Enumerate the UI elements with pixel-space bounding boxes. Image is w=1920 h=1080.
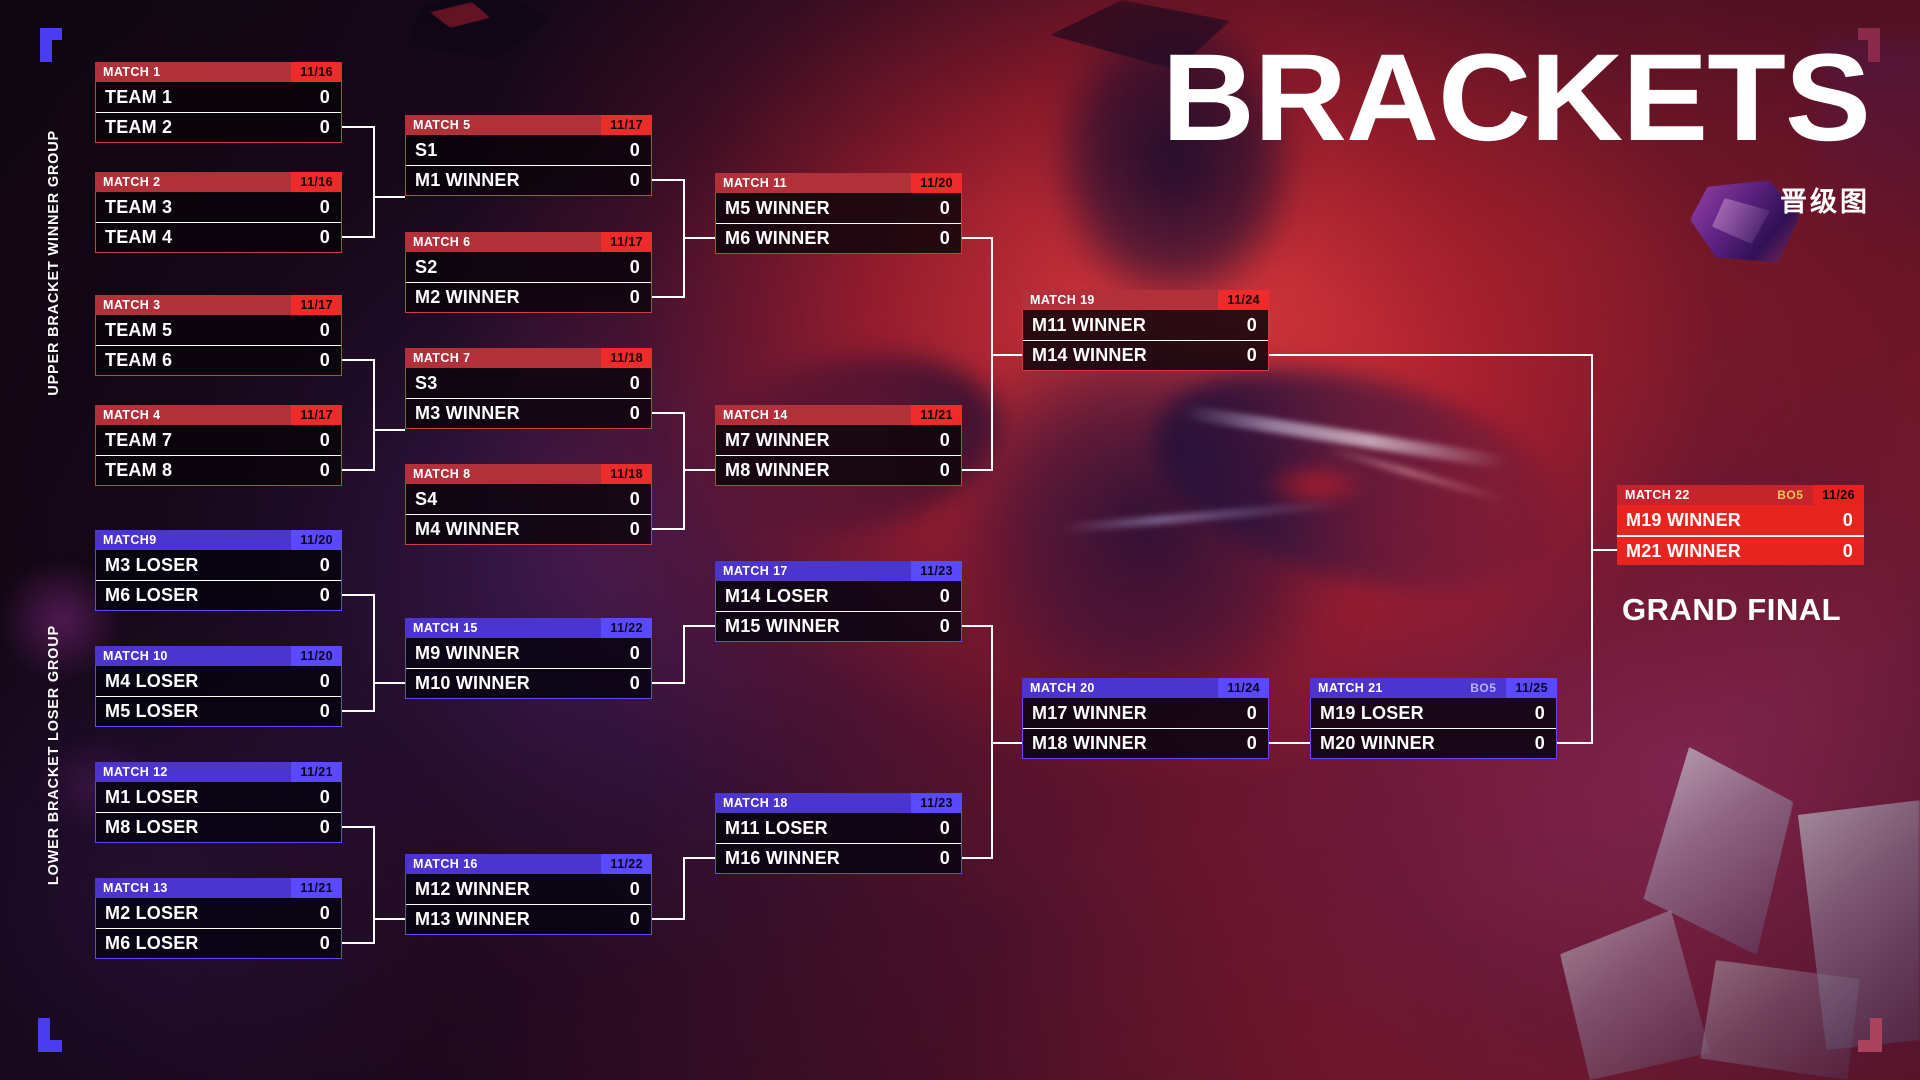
team-score: 0: [320, 320, 341, 341]
team-name: M13 WINNER: [406, 909, 630, 930]
team-name: M5 WINNER: [716, 198, 940, 219]
team-score: 0: [940, 198, 961, 219]
match-card-m10[interactable]: MATCH 1011/20M4 LOSER0M5 LOSER0: [95, 646, 342, 727]
match-card-m12[interactable]: MATCH 1211/21M1 LOSER0M8 LOSER0: [95, 762, 342, 843]
team-name: M11 WINNER: [1023, 315, 1247, 336]
match-header: MATCH 1211/21: [95, 762, 342, 782]
match-name: MATCH 5: [405, 118, 601, 132]
match-team-row[interactable]: TEAM 70: [96, 425, 341, 455]
match-body: M1 LOSER0M8 LOSER0: [95, 782, 342, 843]
match-name: MATCH 11: [715, 176, 911, 190]
match-team-row[interactable]: M10 WINNER0: [406, 668, 651, 698]
match-body: S40M4 WINNER0: [405, 484, 652, 545]
match-team-row[interactable]: S40: [406, 484, 651, 514]
match-name: MATCH 17: [715, 564, 911, 578]
team-name: TEAM 1: [96, 87, 320, 108]
match-header: MATCH 1611/22: [405, 854, 652, 874]
match-team-row[interactable]: M6 WINNER0: [716, 223, 961, 253]
match-name: MATCH 3: [95, 298, 291, 312]
team-score: 0: [940, 460, 961, 481]
match-team-row[interactable]: M15 WINNER0: [716, 611, 961, 641]
team-name: M6 WINNER: [716, 228, 940, 249]
match-team-row[interactable]: M2 WINNER0: [406, 282, 651, 312]
match-date: 11/21: [291, 762, 342, 782]
team-score: 0: [630, 643, 651, 664]
match-header: MATCH 711/18: [405, 348, 652, 368]
match-date: 11/16: [291, 172, 342, 192]
match-date: 11/17: [291, 405, 342, 425]
match-team-row[interactable]: M14 WINNER0: [1023, 340, 1268, 370]
match-team-row[interactable]: M1 WINNER0: [406, 165, 651, 195]
team-name: M18 WINNER: [1023, 733, 1247, 754]
team-score: 0: [940, 430, 961, 451]
match-name: MATCH 15: [405, 621, 601, 635]
match-card-m8[interactable]: MATCH 811/18S40M4 WINNER0: [405, 464, 652, 545]
team-score: 0: [940, 228, 961, 249]
match-header: MATCH 1111/20: [715, 173, 962, 193]
match-date: 11/22: [601, 618, 652, 638]
team-name: M2 WINNER: [406, 287, 630, 308]
team-name: S2: [406, 257, 630, 278]
match-header: MATCH 1911/24: [1022, 290, 1269, 310]
match-team-row[interactable]: TEAM 50: [96, 315, 341, 345]
team-score: 0: [1247, 345, 1268, 366]
team-score: 0: [320, 430, 341, 451]
match-name: MATCH9: [95, 533, 291, 547]
lower-bracket-group-label: LOWER BRACKET LOSER GROUP: [46, 625, 62, 885]
match-team-row[interactable]: M21 WINNER0: [1617, 535, 1864, 565]
match-card-m19[interactable]: MATCH 1911/24M11 WINNER0M14 WINNER0: [1022, 290, 1269, 371]
match-header: MATCH 1011/20: [95, 646, 342, 666]
match-body: M9 WINNER0M10 WINNER0: [405, 638, 652, 699]
match-header: MATCH 811/18: [405, 464, 652, 484]
match-body: M5 WINNER0M6 WINNER0: [715, 193, 962, 254]
team-score: 0: [320, 87, 341, 108]
match-name: MATCH 14: [715, 408, 911, 422]
match-team-row[interactable]: TEAM 10: [96, 82, 341, 112]
match-card-m20[interactable]: MATCH 2011/24M17 WINNER0M18 WINNER0: [1022, 678, 1269, 759]
match-header: MATCH 1511/22: [405, 618, 652, 638]
team-score: 0: [630, 373, 651, 394]
match-team-row[interactable]: M8 WINNER0: [716, 455, 961, 485]
team-name: TEAM 2: [96, 117, 320, 138]
match-card-m2[interactable]: MATCH 211/16TEAM 30TEAM 40: [95, 172, 342, 253]
match-name: MATCH 7: [405, 351, 601, 365]
team-score: 0: [630, 403, 651, 424]
match-team-row[interactable]: M12 WINNER0: [406, 874, 651, 904]
match-team-row[interactable]: M19 LOSER0: [1311, 698, 1556, 728]
team-score: 0: [320, 701, 341, 722]
match-body: M2 LOSER0M6 LOSER0: [95, 898, 342, 959]
match-team-row[interactable]: S30: [406, 368, 651, 398]
team-score: 0: [320, 787, 341, 808]
match-body: TEAM 10TEAM 20: [95, 82, 342, 143]
match-card-m21[interactable]: MATCH 21BO511/25M19 LOSER0M20 WINNER0: [1310, 678, 1557, 759]
match-team-row[interactable]: M13 WINNER0: [406, 904, 651, 934]
match-team-row[interactable]: M5 LOSER0: [96, 696, 341, 726]
match-header: MATCH 211/16: [95, 172, 342, 192]
match-date: 11/21: [291, 878, 342, 898]
team-name: M8 WINNER: [716, 460, 940, 481]
match-team-row[interactable]: M9 WINNER0: [406, 638, 651, 668]
team-name: TEAM 8: [96, 460, 320, 481]
match-team-row[interactable]: S20: [406, 252, 651, 282]
match-header: MATCH 1811/23: [715, 793, 962, 813]
match-name: MATCH 8: [405, 467, 601, 481]
team-name: M14 WINNER: [1023, 345, 1247, 366]
match-team-row[interactable]: M4 LOSER0: [96, 666, 341, 696]
team-name: S3: [406, 373, 630, 394]
match-body: M7 WINNER0M8 WINNER0: [715, 425, 962, 486]
team-score: 0: [320, 555, 341, 576]
match-card-m13[interactable]: MATCH 1311/21M2 LOSER0M6 LOSER0: [95, 878, 342, 959]
corner-bracket-bottom-left: [28, 1018, 62, 1052]
match-team-row[interactable]: M4 WINNER0: [406, 514, 651, 544]
team-score: 0: [630, 879, 651, 900]
match-name: MATCH 1: [95, 65, 291, 79]
team-score: 0: [630, 519, 651, 540]
match-team-row[interactable]: M6 LOSER0: [96, 928, 341, 958]
team-score: 0: [320, 817, 341, 838]
match-team-row[interactable]: M20 WINNER0: [1311, 728, 1556, 758]
match-card-m5[interactable]: MATCH 511/17S10M1 WINNER0: [405, 115, 652, 196]
team-name: M20 WINNER: [1311, 733, 1535, 754]
match-header: MATCH 611/17: [405, 232, 652, 252]
match-team-row[interactable]: M3 WINNER0: [406, 398, 651, 428]
match-card-m6[interactable]: MATCH 611/17S20M2 WINNER0: [405, 232, 652, 313]
team-score: 0: [940, 586, 961, 607]
team-score: 0: [1247, 315, 1268, 336]
match-name: MATCH 13: [95, 881, 291, 895]
team-score: 0: [1535, 733, 1556, 754]
match-date: 11/23: [911, 793, 962, 813]
corner-bracket-top-left: [28, 28, 62, 62]
match-team-row[interactable]: M7 WINNER0: [716, 425, 961, 455]
match-card-m1[interactable]: MATCH 111/16TEAM 10TEAM 20: [95, 62, 342, 143]
team-name: M6 LOSER: [96, 933, 320, 954]
team-name: M4 LOSER: [96, 671, 320, 692]
match-date: 11/20: [911, 173, 962, 193]
team-score: 0: [1247, 703, 1268, 724]
match-header: MATCH 2011/24: [1022, 678, 1269, 698]
match-date: 11/17: [601, 232, 652, 252]
team-name: M10 WINNER: [406, 673, 630, 694]
team-score: 0: [630, 257, 651, 278]
match-body: M19 WINNER0M21 WINNER0: [1617, 505, 1864, 565]
match-team-row[interactable]: M1 LOSER0: [96, 782, 341, 812]
match-body: S30M3 WINNER0: [405, 368, 652, 429]
match-date: 11/20: [291, 530, 342, 550]
team-name: M14 LOSER: [716, 586, 940, 607]
page-subtitle-chinese: 晋级图: [1189, 180, 1870, 219]
match-team-row[interactable]: TEAM 20: [96, 112, 341, 142]
match-name: MATCH 2: [95, 175, 291, 189]
team-name: TEAM 3: [96, 197, 320, 218]
match-team-row[interactable]: M6 LOSER0: [96, 580, 341, 610]
team-score: 0: [1843, 541, 1864, 562]
match-card-m18[interactable]: MATCH 1811/23M11 LOSER0M16 WINNER0: [715, 793, 962, 874]
team-name: M5 LOSER: [96, 701, 320, 722]
match-card-m16[interactable]: MATCH 1611/22M12 WINNER0M13 WINNER0: [405, 854, 652, 935]
match-team-row[interactable]: M18 WINNER0: [1023, 728, 1268, 758]
match-date: 11/24: [1218, 290, 1269, 310]
team-name: M12 WINNER: [406, 879, 630, 900]
match-body: M11 LOSER0M16 WINNER0: [715, 813, 962, 874]
match-card-m11[interactable]: MATCH 1111/20M5 WINNER0M6 WINNER0: [715, 173, 962, 254]
match-card-m22[interactable]: MATCH 22BO511/26M19 WINNER0M21 WINNER0: [1617, 485, 1864, 565]
match-date: 11/25: [1506, 678, 1557, 698]
match-date: 11/24: [1218, 678, 1269, 698]
match-body: M4 LOSER0M5 LOSER0: [95, 666, 342, 727]
team-score: 0: [630, 489, 651, 510]
team-name: M7 WINNER: [716, 430, 940, 451]
team-score: 0: [320, 117, 341, 138]
team-score: 0: [320, 227, 341, 248]
match-header: MATCH 411/17: [95, 405, 342, 425]
match-date: 11/21: [911, 405, 962, 425]
team-name: M15 WINNER: [716, 616, 940, 637]
match-header: MATCH 22BO511/26: [1617, 485, 1864, 505]
match-header: MATCH 511/17: [405, 115, 652, 135]
match-team-row[interactable]: M11 LOSER0: [716, 813, 961, 843]
match-name: MATCH 6: [405, 235, 601, 249]
team-score: 0: [320, 585, 341, 606]
team-name: M1 WINNER: [406, 170, 630, 191]
team-name: M8 LOSER: [96, 817, 320, 838]
match-team-row[interactable]: M17 WINNER0: [1023, 698, 1268, 728]
team-score: 0: [320, 460, 341, 481]
match-header: MATCH 1311/21: [95, 878, 342, 898]
upper-bracket-group-label: UPPER BRACKET WINNER GROUP: [46, 130, 62, 396]
match-team-row[interactable]: TEAM 80: [96, 455, 341, 485]
team-name: M2 LOSER: [96, 903, 320, 924]
match-header: MATCH911/20: [95, 530, 342, 550]
team-name: M3 LOSER: [96, 555, 320, 576]
team-name: S1: [406, 140, 630, 161]
team-name: TEAM 4: [96, 227, 320, 248]
match-date: 11/26: [1813, 485, 1864, 505]
match-body: M3 LOSER0M6 LOSER0: [95, 550, 342, 611]
match-card-m4[interactable]: MATCH 411/17TEAM 70TEAM 80: [95, 405, 342, 486]
match-body: S20M2 WINNER0: [405, 252, 652, 313]
team-name: M9 WINNER: [406, 643, 630, 664]
match-body: S10M1 WINNER0: [405, 135, 652, 196]
team-name: TEAM 7: [96, 430, 320, 451]
match-header: MATCH 1411/21: [715, 405, 962, 425]
match-name: MATCH 22: [1617, 488, 1777, 502]
team-score: 0: [630, 287, 651, 308]
match-date: 11/17: [601, 115, 652, 135]
team-name: M19 WINNER: [1617, 510, 1843, 531]
corner-bracket-bottom-right: [1858, 1018, 1892, 1052]
match-name: MATCH 18: [715, 796, 911, 810]
match-body: M12 WINNER0M13 WINNER0: [405, 874, 652, 935]
title-block: BRACKETS 晋级图: [1189, 40, 1870, 219]
match-date: 11/18: [601, 464, 652, 484]
match-card-m3[interactable]: MATCH 311/17TEAM 50TEAM 60: [95, 295, 342, 376]
grand-final-label: GRAND FINAL: [1622, 592, 1841, 628]
team-score: 0: [320, 350, 341, 371]
match-card-m17[interactable]: MATCH 1711/23M14 LOSER0M15 WINNER0: [715, 561, 962, 642]
match-body: TEAM 30TEAM 40: [95, 192, 342, 253]
team-score: 0: [940, 616, 961, 637]
match-date: 11/23: [911, 561, 962, 581]
match-name: MATCH 19: [1022, 293, 1218, 307]
team-name: M21 WINNER: [1617, 541, 1843, 562]
match-body: M19 LOSER0M20 WINNER0: [1310, 698, 1557, 759]
match-name: MATCH 10: [95, 649, 291, 663]
team-score: 0: [630, 140, 651, 161]
match-header: MATCH 21BO511/25: [1310, 678, 1557, 698]
team-score: 0: [630, 170, 651, 191]
team-score: 0: [1535, 703, 1556, 724]
team-name: M19 LOSER: [1311, 703, 1535, 724]
match-team-row[interactable]: M11 WINNER0: [1023, 310, 1268, 340]
team-score: 0: [320, 933, 341, 954]
match-card-m15[interactable]: MATCH 1511/22M9 WINNER0M10 WINNER0: [405, 618, 652, 699]
match-team-row[interactable]: M5 WINNER0: [716, 193, 961, 223]
team-score: 0: [1843, 510, 1864, 531]
match-team-row[interactable]: M16 WINNER0: [716, 843, 961, 873]
match-team-row[interactable]: TEAM 40: [96, 222, 341, 252]
team-score: 0: [630, 909, 651, 930]
match-card-m14[interactable]: MATCH 1411/21M7 WINNER0M8 WINNER0: [715, 405, 962, 486]
match-date: 11/20: [291, 646, 342, 666]
match-team-row[interactable]: TEAM 60: [96, 345, 341, 375]
match-team-row[interactable]: M8 LOSER0: [96, 812, 341, 842]
match-name: MATCH 16: [405, 857, 601, 871]
team-name: M6 LOSER: [96, 585, 320, 606]
team-name: TEAM 6: [96, 350, 320, 371]
page-title: BRACKETS: [1162, 40, 1870, 158]
match-name: MATCH 4: [95, 408, 291, 422]
team-score: 0: [1247, 733, 1268, 754]
team-name: TEAM 5: [96, 320, 320, 341]
team-name: M17 WINNER: [1023, 703, 1247, 724]
match-format-badge: BO5: [1470, 681, 1506, 695]
match-date: 11/17: [291, 295, 342, 315]
match-header: MATCH 311/17: [95, 295, 342, 315]
match-team-row[interactable]: M19 WINNER0: [1617, 505, 1864, 535]
team-name: M1 LOSER: [96, 787, 320, 808]
match-name: MATCH 12: [95, 765, 291, 779]
match-body: TEAM 50TEAM 60: [95, 315, 342, 376]
team-name: M16 WINNER: [716, 848, 940, 869]
team-score: 0: [320, 903, 341, 924]
match-name: MATCH 21: [1310, 681, 1470, 695]
team-name: M11 LOSER: [716, 818, 940, 839]
match-format-badge: BO5: [1777, 488, 1813, 502]
team-name: M3 WINNER: [406, 403, 630, 424]
team-score: 0: [940, 848, 961, 869]
match-team-row[interactable]: M14 LOSER0: [716, 581, 961, 611]
team-name: M4 WINNER: [406, 519, 630, 540]
match-date: 11/18: [601, 348, 652, 368]
match-card-m7[interactable]: MATCH 711/18S30M3 WINNER0: [405, 348, 652, 429]
team-name: S4: [406, 489, 630, 510]
match-body: TEAM 70TEAM 80: [95, 425, 342, 486]
match-team-row[interactable]: TEAM 30: [96, 192, 341, 222]
match-body: M14 LOSER0M15 WINNER0: [715, 581, 962, 642]
match-date: 11/16: [291, 62, 342, 82]
match-team-row[interactable]: M3 LOSER0: [96, 550, 341, 580]
match-body: M11 WINNER0M14 WINNER0: [1022, 310, 1269, 371]
match-card-m9[interactable]: MATCH911/20M3 LOSER0M6 LOSER0: [95, 530, 342, 611]
team-score: 0: [320, 671, 341, 692]
match-team-row[interactable]: S10: [406, 135, 651, 165]
team-score: 0: [630, 673, 651, 694]
team-score: 0: [940, 818, 961, 839]
match-team-row[interactable]: M2 LOSER0: [96, 898, 341, 928]
match-date: 11/22: [601, 854, 652, 874]
match-header: MATCH 1711/23: [715, 561, 962, 581]
match-name: MATCH 20: [1022, 681, 1218, 695]
match-header: MATCH 111/16: [95, 62, 342, 82]
team-score: 0: [320, 197, 341, 218]
match-body: M17 WINNER0M18 WINNER0: [1022, 698, 1269, 759]
